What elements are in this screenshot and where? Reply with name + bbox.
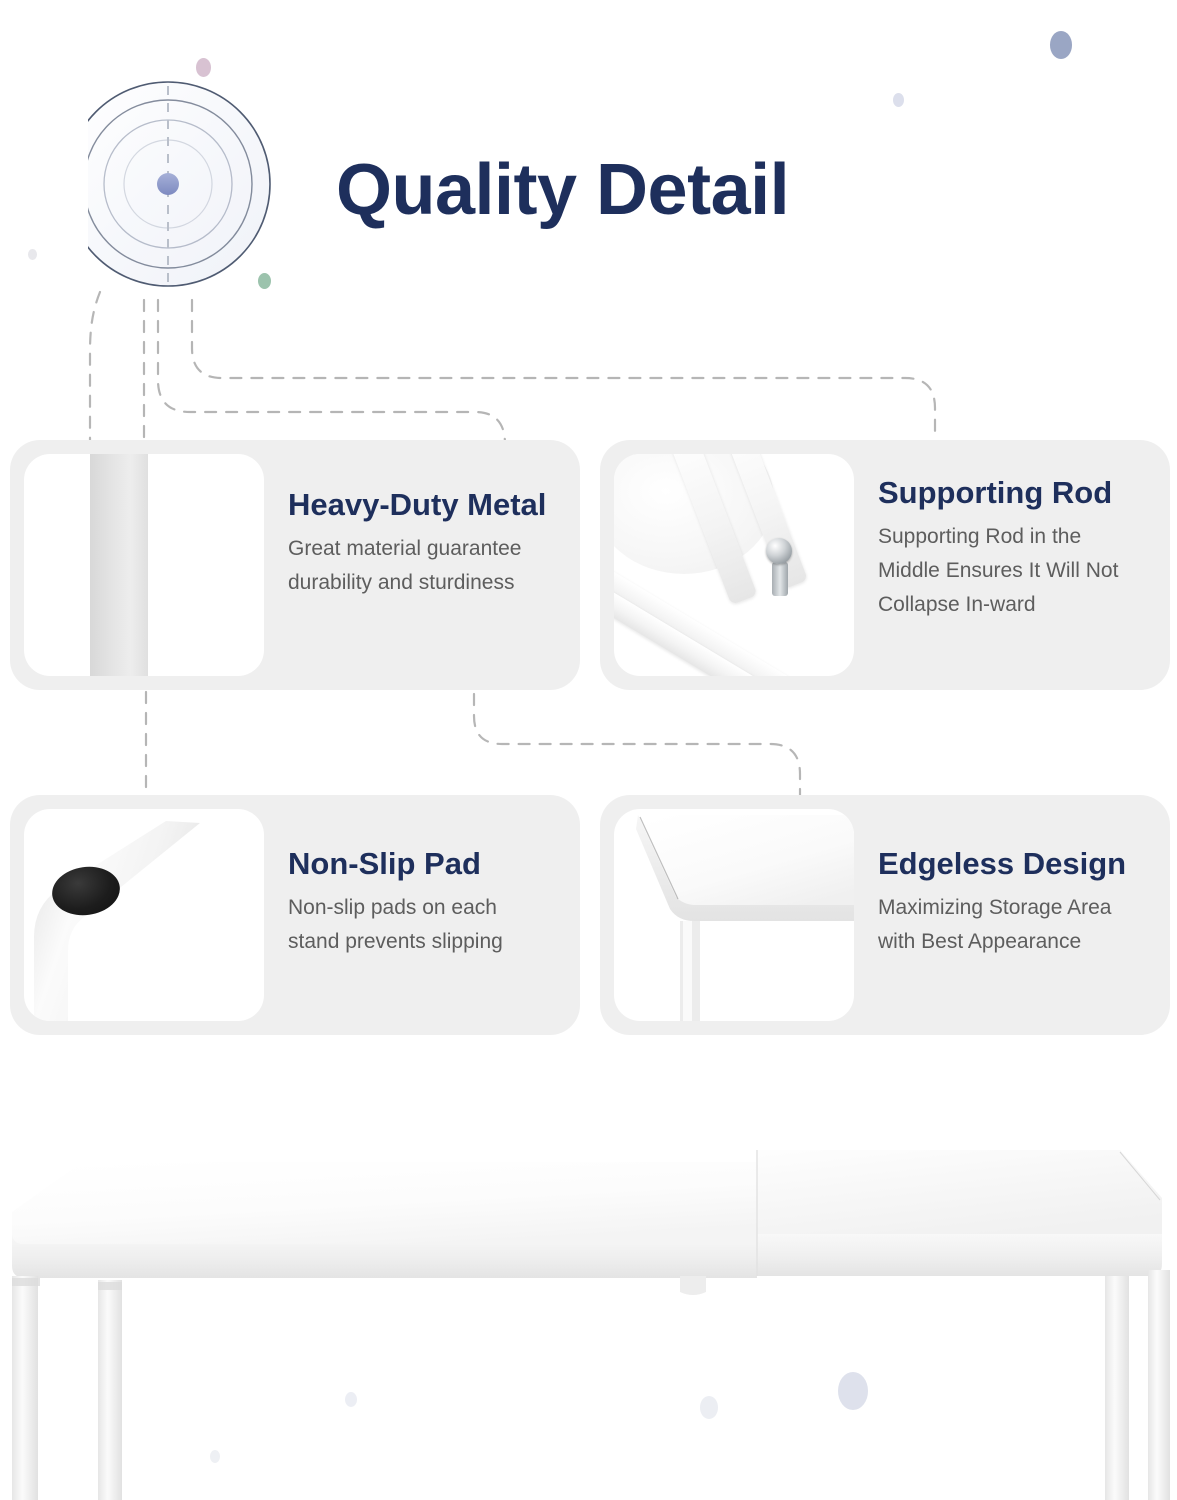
feature-card-non-slip-pad: Non-Slip Pad Non-slip pads on each stand… [10,795,580,1035]
feature-card-heavy-duty-metal: Heavy-Duty Metal Great material guarante… [10,440,580,690]
desc-line: stand prevents slipping [288,925,562,959]
product-photo-expandable-shelf [0,1120,1177,1500]
dot-white-left [28,249,37,260]
infographic-page: Quality Detail Heavy-Duty Metal Great ma… [0,0,1177,1500]
card-title: Heavy-Duty Metal [288,488,562,522]
desc-line: Middle Ensures It Will Not [878,554,1152,588]
metal-bar-shape [90,454,148,676]
curved-leg-shape [24,809,264,1021]
desc-line: durability and sturdiness [288,566,562,600]
supporting-rod-photo [614,454,854,676]
feature-card-edgeless-design: Edgeless Design Maximizing Storage Area … [600,795,1170,1035]
shelf-corner-shape [614,809,854,1021]
metal-bar-photo [24,454,264,676]
concentric-target-emblem [88,78,324,314]
screw-stem [772,562,788,596]
edgeless-corner-photo [614,809,854,1021]
dot-lavender-sm [893,93,904,107]
card-text-block: Non-Slip Pad Non-slip pads on each stand… [264,795,580,1035]
card-description: Great material guarantee durability and … [288,532,562,600]
card-text-block: Heavy-Duty Metal Great material guarante… [264,440,580,690]
card-title: Non-Slip Pad [288,847,562,881]
card-description: Maximizing Storage Area with Best Appear… [878,891,1152,959]
card-title: Supporting Rod [878,476,1152,510]
feature-card-supporting-rod: Supporting Rod Supporting Rod in the Mid… [600,440,1170,690]
card-description: Non-slip pads on each stand prevents sli… [288,891,562,959]
desc-line: Supporting Rod in the [878,520,1152,554]
dot-pink [196,58,211,77]
dot-blue-large [1050,31,1072,59]
desc-line: Collapse In-ward [878,588,1152,622]
screw-head-icon [766,538,792,564]
desc-line: Non-slip pads on each [288,891,562,925]
card-title: Edgeless Design [878,847,1152,881]
card-text-block: Supporting Rod Supporting Rod in the Mid… [854,440,1170,690]
desc-line: with Best Appearance [878,925,1152,959]
page-title: Quality Detail [336,154,789,226]
desc-line: Maximizing Storage Area [878,891,1152,925]
desc-line: Great material guarantee [288,532,562,566]
card-text-block: Edgeless Design Maximizing Storage Area … [854,795,1170,1035]
non-slip-pad-photo [24,809,264,1021]
card-description: Supporting Rod in the Middle Ensures It … [878,520,1152,622]
